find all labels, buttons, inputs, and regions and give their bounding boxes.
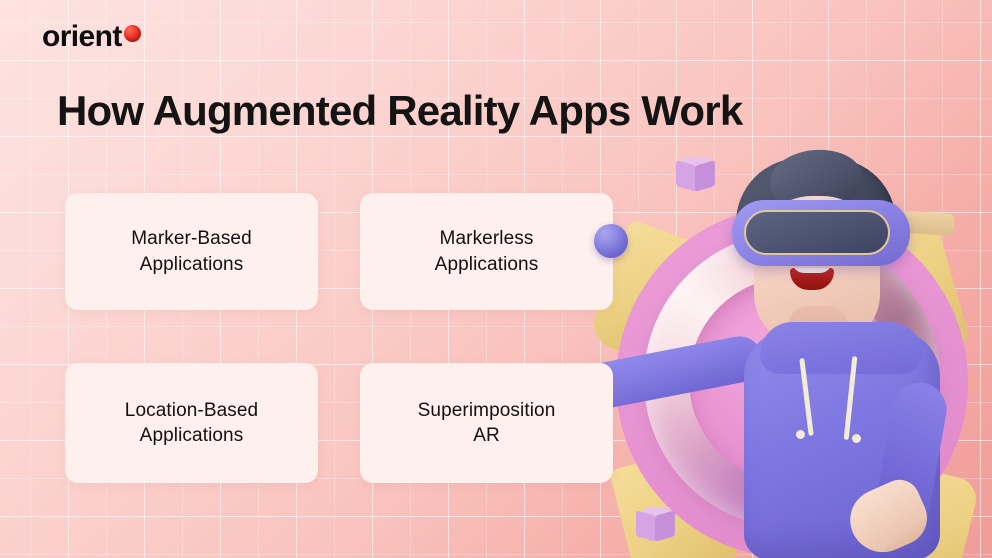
brand-logo[interactable]: orient <box>42 22 141 52</box>
card-marker-based[interactable]: Marker-Based Applications <box>65 193 318 310</box>
ar-app-type-card-grid: Marker-Based Applications Markerless App… <box>65 193 613 483</box>
character-extended-arm <box>592 332 766 428</box>
card-label-line2: AR <box>473 425 500 446</box>
purple-sphere-icon <box>594 224 628 258</box>
card-label-line1: Location-Based <box>125 400 258 421</box>
card-superimposition-ar[interactable]: Superimposition AR <box>360 363 613 483</box>
infographic-canvas: orient How Augmented Reality Apps Work <box>0 0 992 558</box>
card-markerless[interactable]: Markerless Applications <box>360 193 613 310</box>
cube-face-left <box>676 160 696 192</box>
illustration-scene <box>592 0 992 558</box>
cube-face-left <box>636 510 656 542</box>
card-label-line2: Applications <box>140 425 244 446</box>
purple-cube-icon <box>634 502 674 542</box>
card-label: Markerless Applications <box>435 226 539 276</box>
brand-logo-text: orient <box>42 22 122 52</box>
vr-headset-icon <box>732 200 910 266</box>
cube-face-right <box>695 160 715 192</box>
page-title: How Augmented Reality Apps Work <box>57 88 742 134</box>
card-label: Location-Based Applications <box>125 398 258 448</box>
card-label-line1: Markerless <box>440 228 534 249</box>
card-label-line2: Applications <box>435 254 539 275</box>
hoodie-drawstring-tip <box>852 434 861 443</box>
red-sphere-dot-icon <box>124 25 141 42</box>
card-label-line2: Applications <box>140 254 244 275</box>
cube-face-right <box>655 510 675 542</box>
character-hood <box>760 322 922 374</box>
character-3d <box>592 0 992 558</box>
vr-headset-lens <box>744 210 890 255</box>
card-label-line1: Marker-Based <box>131 228 252 249</box>
card-location-based[interactable]: Location-Based Applications <box>65 363 318 483</box>
card-label: Marker-Based Applications <box>131 226 252 276</box>
purple-cube-icon <box>674 152 714 192</box>
hoodie-drawstring-tip <box>796 430 805 439</box>
card-label-line1: Superimposition <box>418 400 556 421</box>
card-label: Superimposition AR <box>418 398 556 448</box>
